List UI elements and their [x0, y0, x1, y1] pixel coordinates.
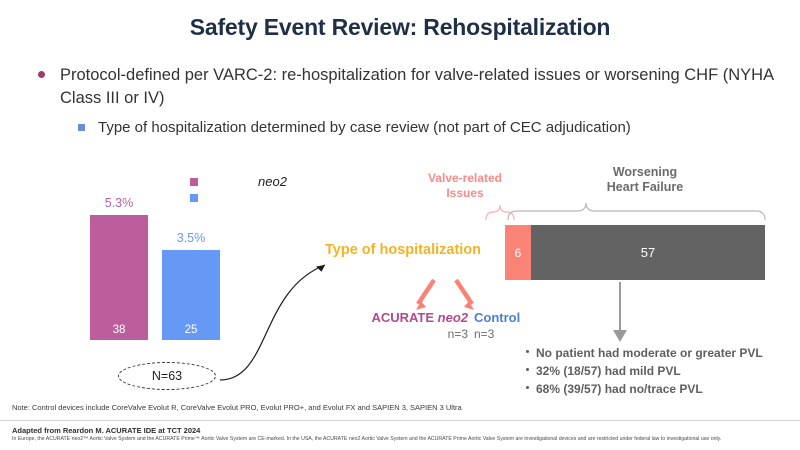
bullet-square-icon [78, 124, 85, 131]
footnote-disclaimer: In Europe, the ACURATE neo2™ Aortic Valv… [12, 436, 798, 443]
group-label-valve-related: Valve-related Issues [404, 171, 526, 200]
arm-n-control: n=3 [474, 327, 534, 341]
group-label-valve-line1: Valve-related [428, 171, 502, 185]
bullet-dot-icon [526, 368, 529, 371]
stacked-segment-valve-related: 6 [505, 225, 531, 280]
arm-label-control: Control [474, 310, 544, 325]
bar-acurate-neo2: 5.3% 38 [90, 215, 148, 340]
group-label-whf-line1: Worsening [613, 165, 677, 179]
segment-value-valve-related: 6 [505, 225, 531, 280]
group-brace-lines [420, 198, 780, 224]
group-label-worsening-heart-failure: Worsening Heart Failure [545, 165, 745, 196]
legend-swatch-control [190, 194, 198, 202]
bullet-level1-text: Protocol-defined per VARC-2: re-hospital… [60, 66, 773, 107]
bar-acurate-percent: 5.3% [90, 196, 148, 210]
bullet-dot-icon [526, 350, 529, 353]
legend-note-neo2: neo2 [258, 174, 287, 189]
legend-swatch-acurate [190, 178, 198, 186]
hospitalization-type-stacked-bar: 6 57 [505, 225, 765, 280]
page-title: Safety Event Review: Rehospitalization [0, 14, 800, 41]
list-item: 32% (18/57) had mild PVL [524, 362, 796, 380]
bullet-level2: Type of hospitalization determined by ca… [78, 118, 798, 139]
arm-label-acurate: ACURATE neo2 [358, 310, 468, 325]
pvl-item-text: 68% (39/57) had no/trace PVL [536, 382, 703, 396]
list-item: No patient had moderate or greater PVL [524, 344, 796, 362]
pvl-findings-list: No patient had moderate or greater PVL 3… [524, 344, 796, 398]
bullet-dot-icon [526, 386, 529, 389]
group-label-whf-line2: Heart Failure [607, 180, 683, 194]
bullet-level2-text: Type of hospitalization determined by ca… [98, 119, 631, 136]
arm-label-acurate-neo2: neo2 [438, 310, 468, 325]
pvl-item-text: No patient had moderate or greater PVL [536, 346, 763, 360]
bar-acurate-count: 38 [90, 324, 148, 336]
bullet-level1: Protocol-defined per VARC-2: re-hospital… [38, 64, 790, 110]
footnote-source: Adapted from Reardon M. ACURATE IDE at T… [12, 426, 712, 435]
stacked-segment-worsening-heart-failure: 57 [531, 225, 765, 280]
footer-divider [0, 420, 800, 421]
pvl-item-text: 32% (18/57) had mild PVL [536, 364, 681, 378]
segment-value-worsening: 57 [531, 225, 765, 280]
down-arrow-icon [600, 282, 640, 344]
footnote-note: Note: Control devices include CoreValve … [12, 403, 612, 412]
arm-label-acurate-prefix: ACURATE [371, 310, 437, 325]
callout-type-of-hospitalization: Type of hospitalization [325, 242, 481, 258]
list-item: 68% (39/57) had no/trace PVL [524, 380, 796, 398]
bullet-dot-icon [38, 71, 45, 78]
arm-n-acurate: n=3 [358, 327, 468, 341]
slide-canvas: Safety Event Review: Rehospitalization P… [0, 0, 800, 450]
